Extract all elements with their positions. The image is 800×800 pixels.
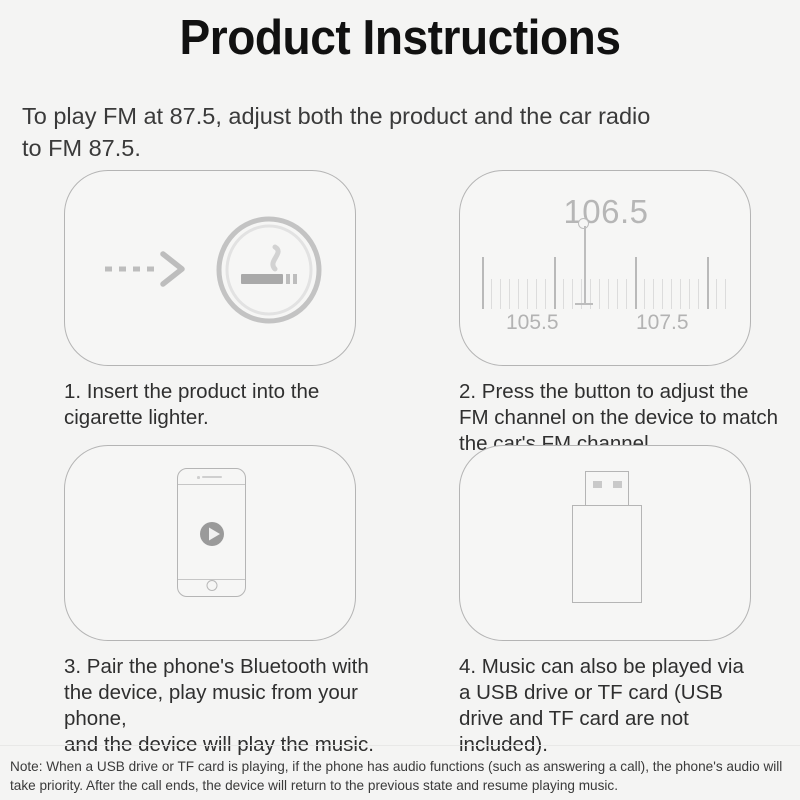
fm-tuner-dial-icon: 106.5: [460, 171, 750, 365]
phone-home-button: [206, 580, 217, 591]
step-4-caption: 4. Music can also be played via a USB dr…: [459, 654, 779, 758]
step-1-caption: 1. Insert the product into the cigarette…: [64, 379, 384, 431]
fm-label-low: 105.5: [506, 311, 559, 335]
step-3-caption: 3. Pair the phone's Bluetooth with the d…: [64, 654, 384, 758]
step-3-illustration-panel: [64, 445, 356, 641]
usb-pin-left: [593, 481, 602, 488]
usb-flash-drive-icon: [572, 471, 642, 603]
tuner-needle: [584, 226, 586, 304]
usb-pin-right: [613, 481, 622, 488]
step-1-illustration-panel: [64, 170, 356, 366]
phone-earpiece: [202, 476, 222, 478]
tuner-needle-foot: [575, 303, 593, 305]
steps-row-1: 1. Insert the product into the cigarette…: [0, 170, 800, 445]
step-2-illustration-panel: 106.5: [459, 170, 751, 366]
steps-grid: 1. Insert the product into the cigarette…: [0, 170, 800, 720]
step-4: 4. Music can also be played via a USB dr…: [459, 445, 751, 758]
step-1: 1. Insert the product into the cigarette…: [64, 170, 356, 431]
fm-frequency-value: 106.5: [460, 193, 752, 231]
fm-tuner-scale: [482, 247, 732, 309]
footer-divider: [0, 745, 800, 746]
usb-drive-body: [572, 505, 642, 603]
play-icon: [199, 521, 225, 547]
dashed-arrow-right-icon: [103, 249, 189, 289]
step-4-illustration-panel: [459, 445, 751, 641]
footer-note: Note: When a USB drive or TF card is pla…: [10, 757, 792, 795]
product-instructions-page: Product Instructions To play FM at 87.5,…: [0, 0, 800, 800]
steps-row-2: 3. Pair the phone's Bluetooth with the d…: [0, 445, 800, 720]
page-title: Product Instructions: [24, 10, 776, 66]
usb-connector-tip: [585, 471, 629, 507]
fm-label-high: 107.5: [636, 311, 689, 335]
intro-paragraph: To play FM at 87.5, adjust both the prod…: [22, 100, 778, 164]
phone-camera-dot: [197, 476, 200, 479]
step-2: 106.5: [459, 170, 751, 457]
smartphone-icon: [177, 468, 246, 597]
cigarette-lighter-socket-icon: [215, 215, 323, 325]
step-3: 3. Pair the phone's Bluetooth with the d…: [64, 445, 356, 758]
